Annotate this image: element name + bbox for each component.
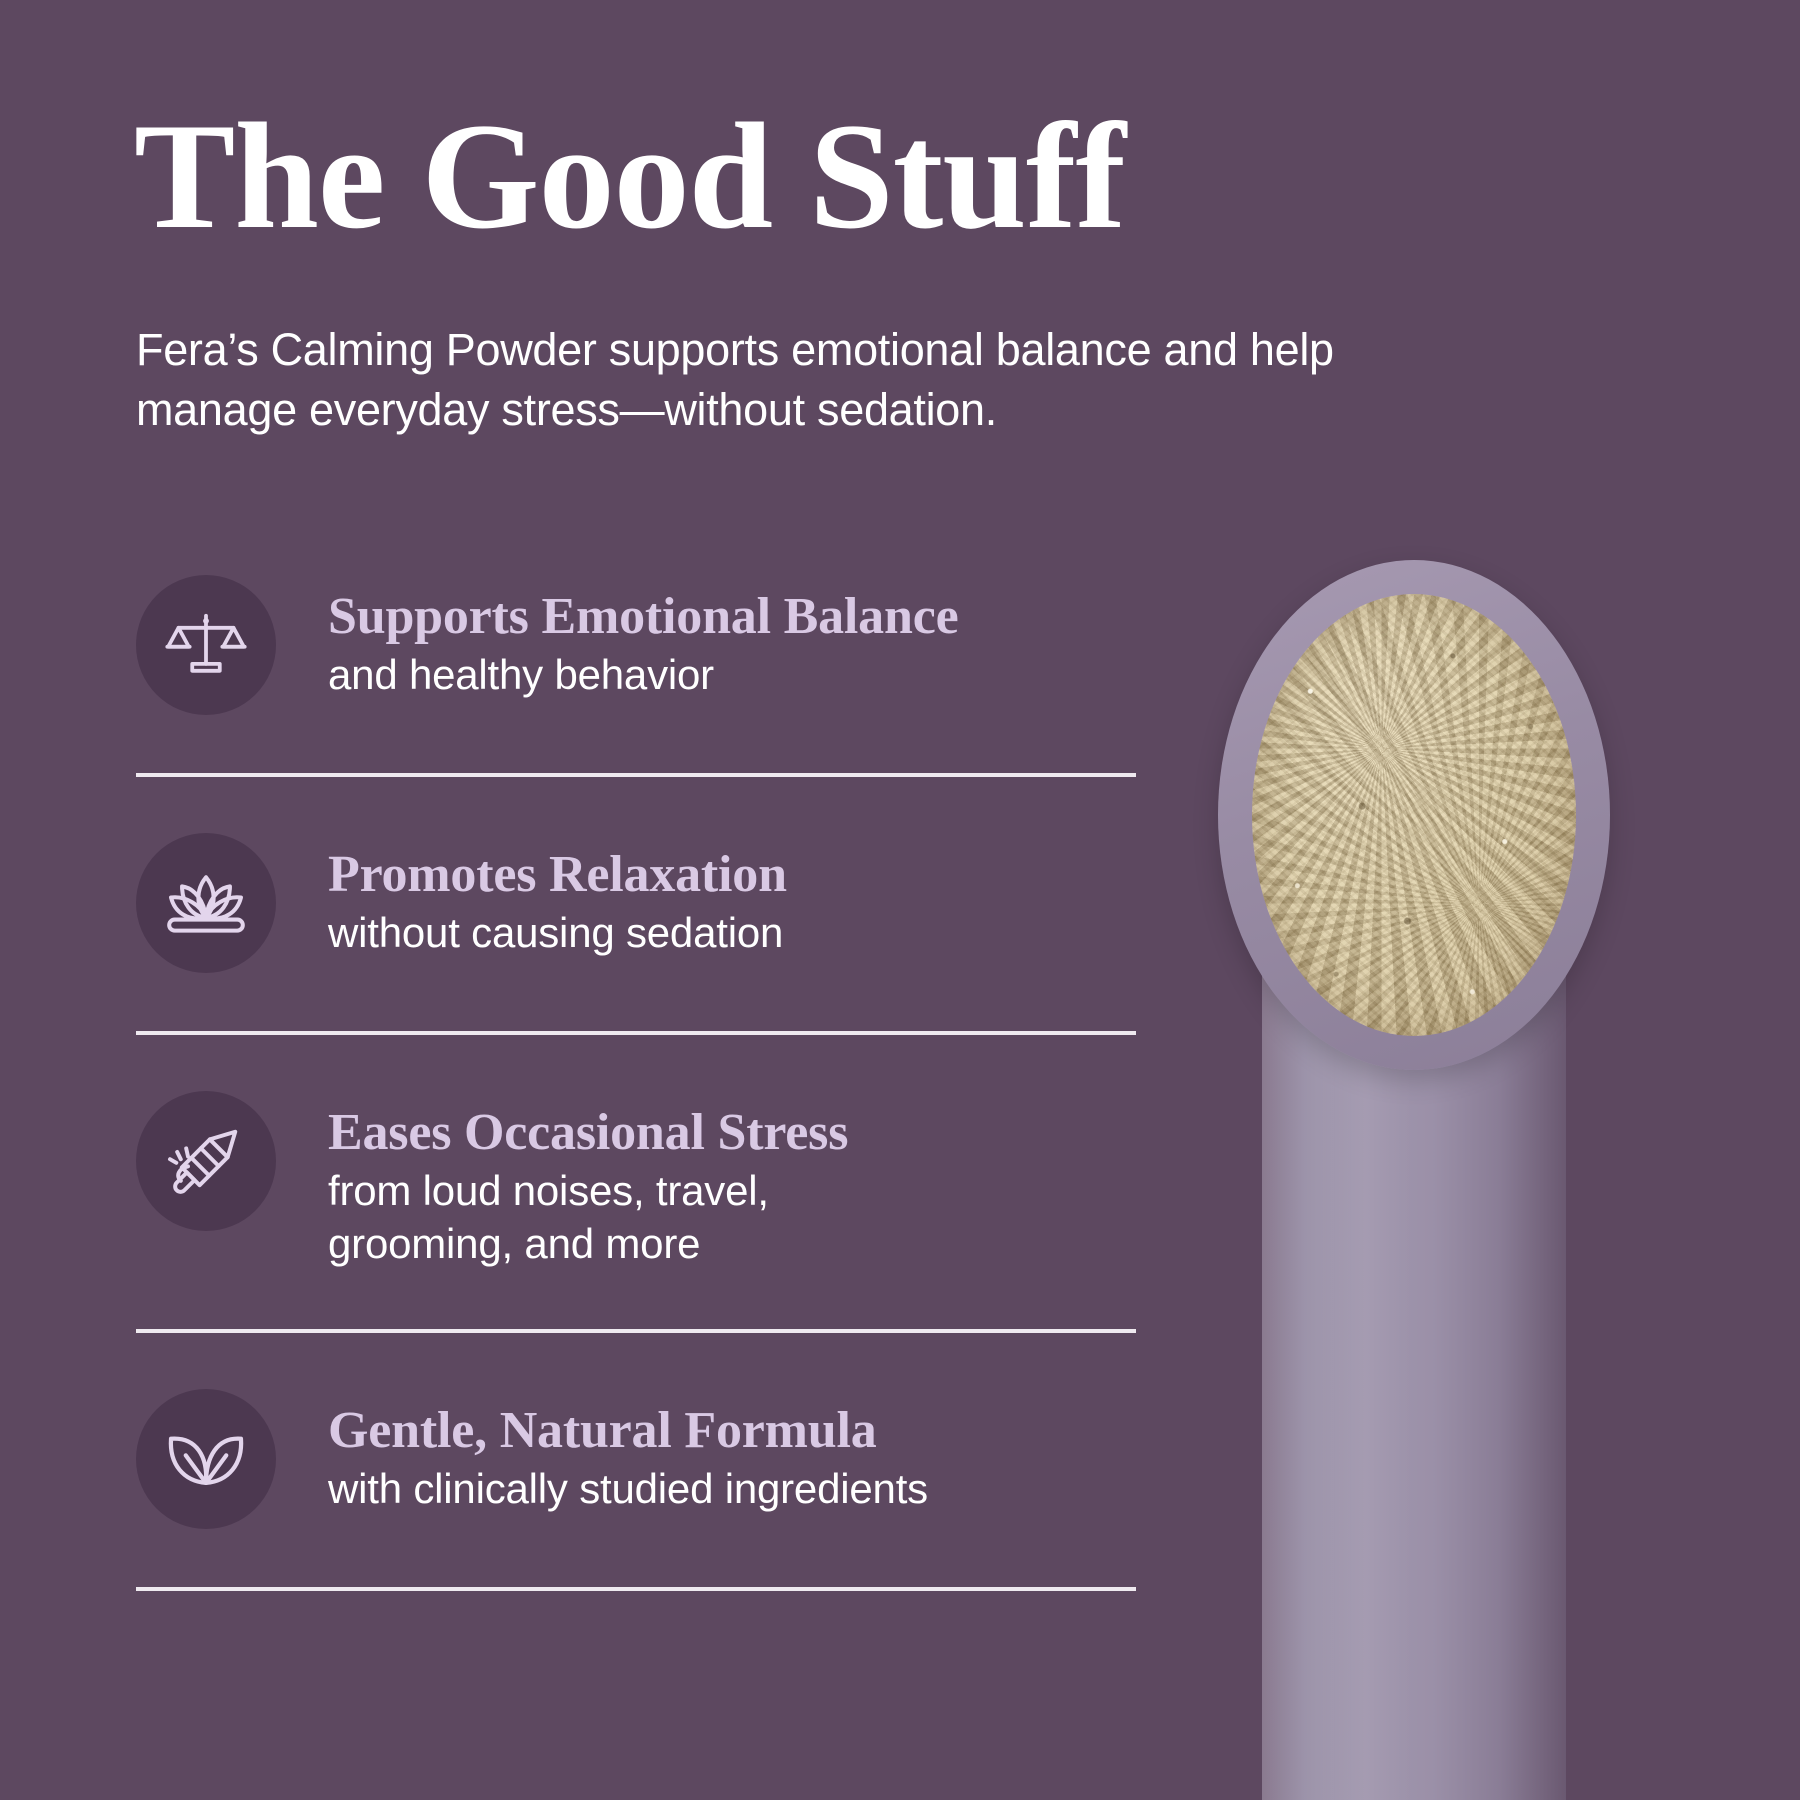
feature-subtitle: from loud noises, travel, grooming, and … <box>328 1165 848 1271</box>
scales-icon <box>136 575 276 715</box>
page-title: The Good Stuff <box>134 100 1125 252</box>
feature-item-emotional-balance: Supports Emotional Balance and healthy b… <box>136 575 1136 715</box>
leaf-icon <box>136 1389 276 1529</box>
feature-item-relaxation: Promotes Relaxation without causing seda… <box>136 833 1136 973</box>
feature-item-natural-formula: Gentle, Natural Formula with clinically … <box>136 1389 1136 1529</box>
feature-subtitle: with clinically studied ingredients <box>328 1463 928 1516</box>
feature-title: Supports Emotional Balance <box>328 589 958 645</box>
lotus-icon <box>136 833 276 973</box>
feature-title: Promotes Relaxation <box>328 847 787 903</box>
feature-list: Supports Emotional Balance and healthy b… <box>136 575 1136 1591</box>
feature-title: Gentle, Natural Formula <box>328 1403 928 1459</box>
feature-item-occasional-stress: Eases Occasional Stress from loud noises… <box>136 1091 1136 1271</box>
divider <box>136 1587 1136 1591</box>
feature-title: Eases Occasional Stress <box>328 1105 848 1161</box>
feature-subtitle: and healthy behavior <box>328 649 958 702</box>
feature-subtitle: without causing sedation <box>328 907 787 960</box>
firework-icon <box>136 1091 276 1231</box>
promo-card: The Good Stuff Fera’s Calming Powder sup… <box>0 0 1800 1800</box>
page-subtitle: Fera’s Calming Powder supports emotional… <box>136 320 1396 440</box>
